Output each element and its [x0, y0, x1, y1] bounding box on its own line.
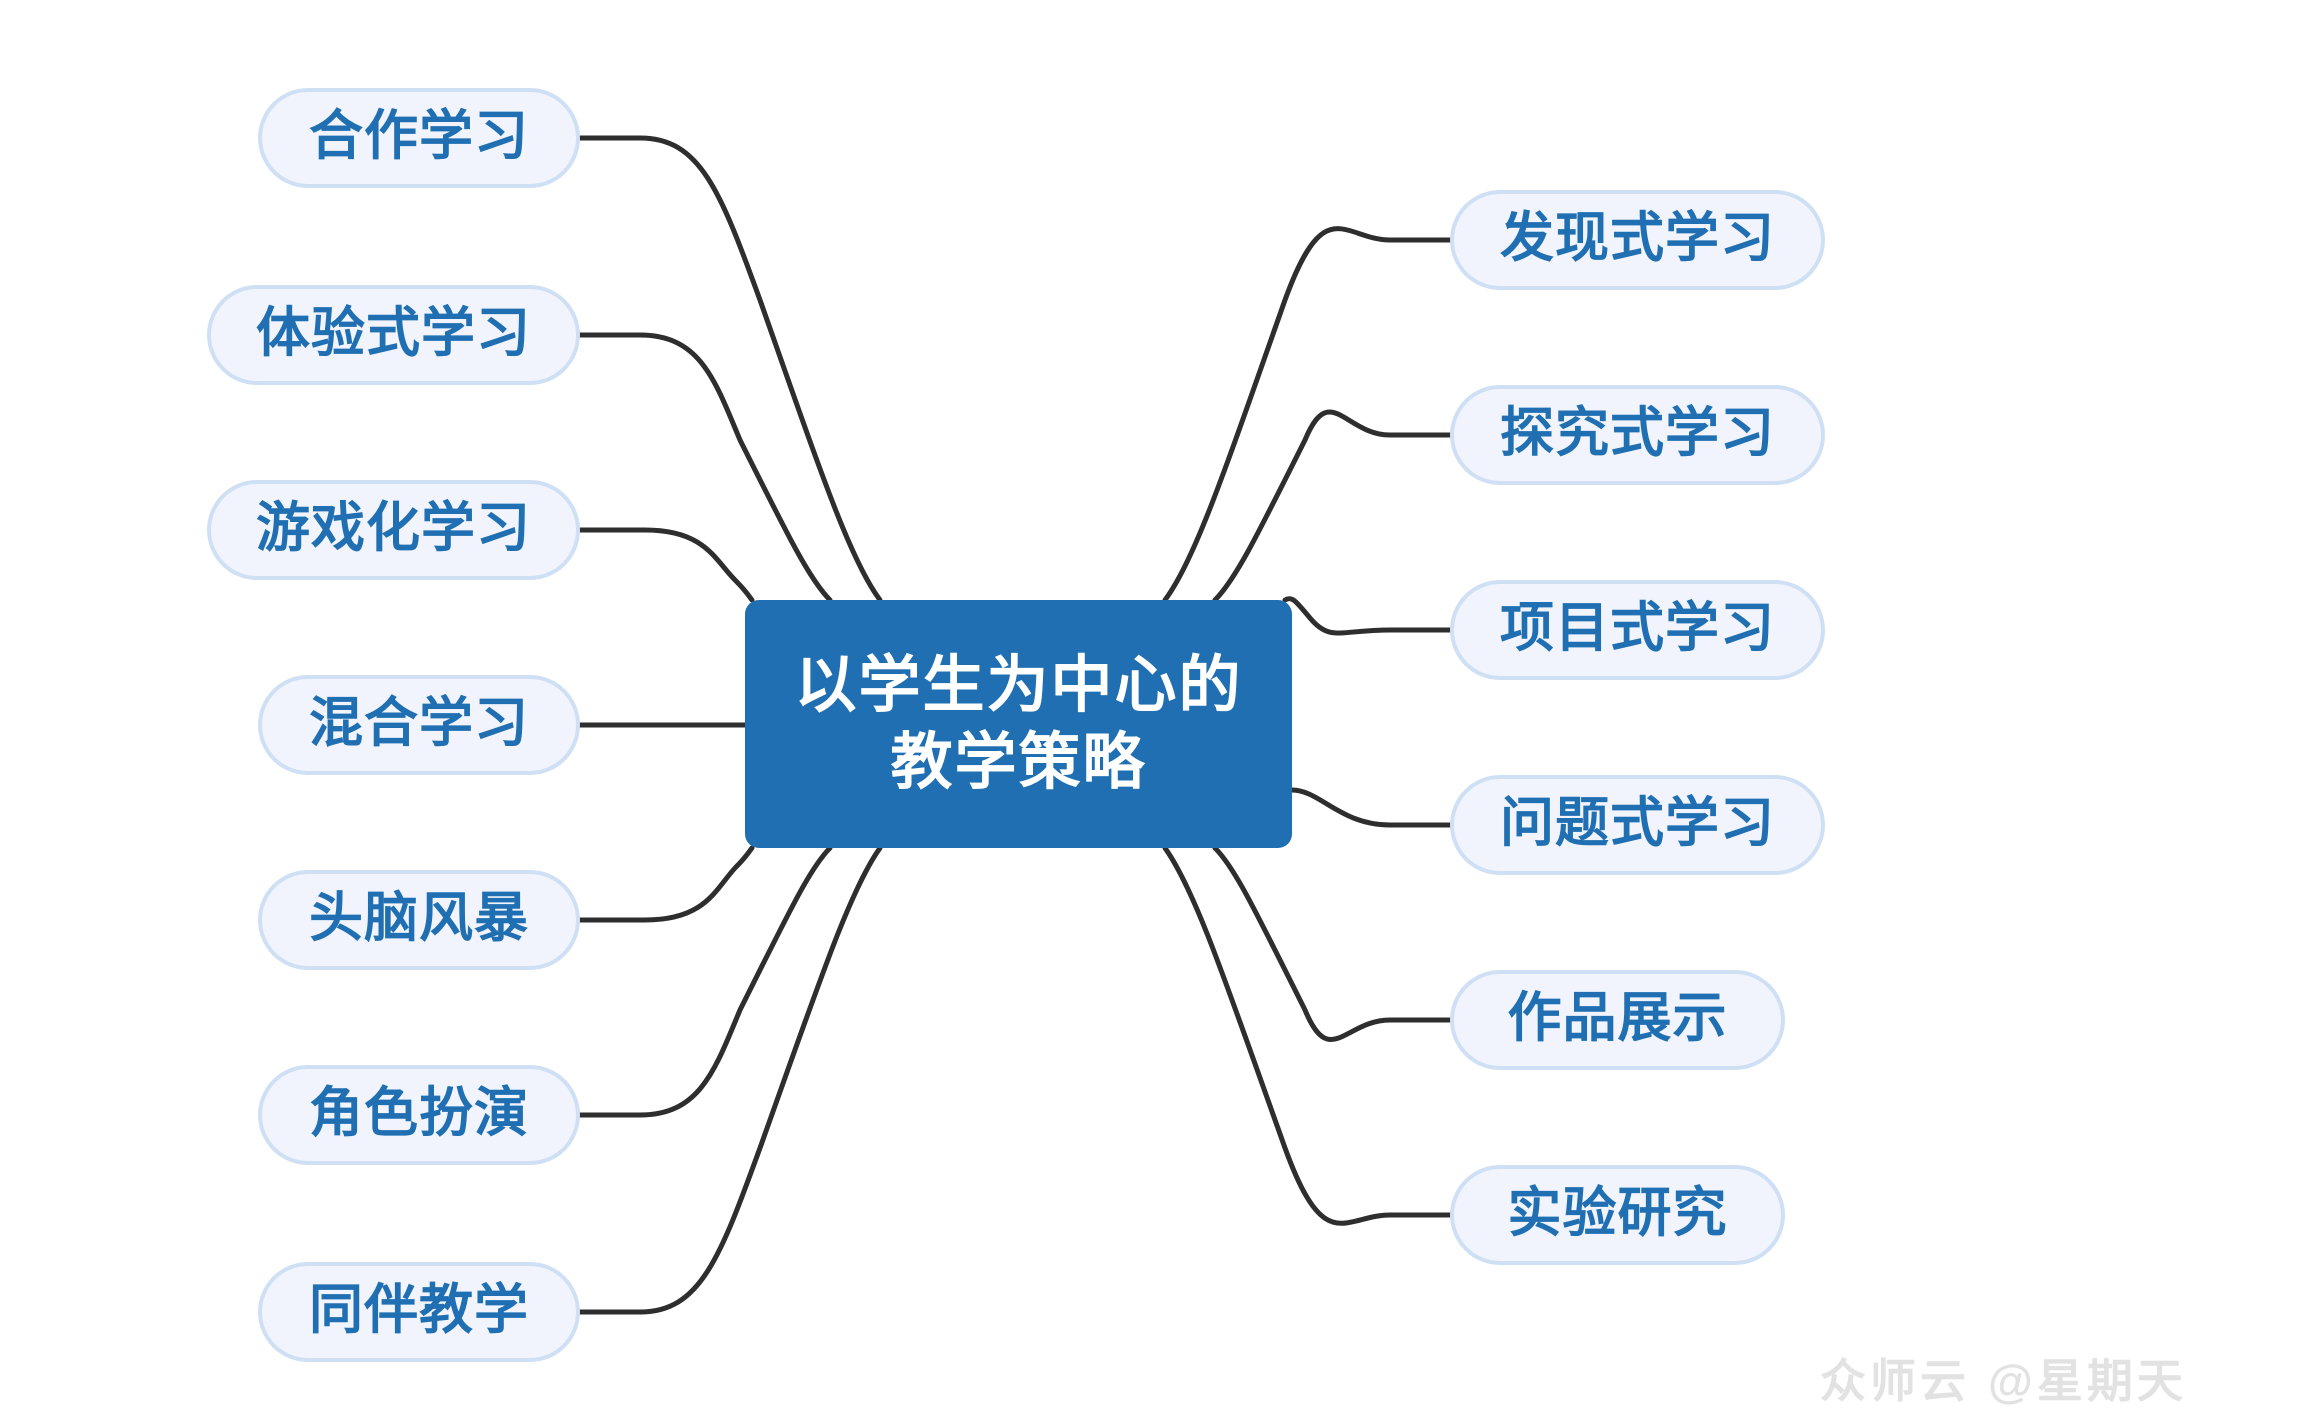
connector-right-12 [1215, 848, 1450, 1040]
branch-node-label: 角色扮演 [309, 1086, 529, 1144]
connector-left-3 [580, 530, 752, 600]
connector-left-2 [580, 335, 830, 600]
connector-right-10 [1285, 599, 1450, 633]
branch-node-left-2[interactable]: 体验式学习 [207, 285, 580, 385]
connector-left-5 [580, 848, 752, 920]
branch-node-label: 体验式学习 [256, 306, 531, 364]
branch-node-left-6[interactable]: 角色扮演 [258, 1065, 580, 1165]
branch-node-left-5[interactable]: 头脑风暴 [258, 870, 580, 970]
central-topic-line-1: 以学生为中心的 [794, 647, 1242, 725]
connector-right-11 [1292, 790, 1450, 825]
branch-node-right-3[interactable]: 项目式学习 [1450, 580, 1825, 680]
connector-right-8 [1165, 229, 1450, 600]
connector-right-13 [1165, 848, 1450, 1223]
branch-node-label: 实验研究 [1508, 1186, 1728, 1244]
branch-node-label: 作品展示 [1508, 991, 1728, 1049]
branch-node-label: 头脑风暴 [309, 891, 529, 949]
branch-node-label: 合作学习 [309, 109, 529, 167]
connector-left-1 [580, 138, 880, 600]
connector-right-9 [1215, 412, 1450, 600]
mindmap-canvas: 合作学习体验式学习游戏化学习混合学习头脑风暴角色扮演同伴教学发现式学习探究式学习… [0, 0, 2297, 1421]
branch-node-label: 发现式学习 [1500, 211, 1775, 269]
branch-node-label: 项目式学习 [1500, 601, 1775, 659]
branch-node-right-1[interactable]: 发现式学习 [1450, 190, 1825, 290]
branch-node-right-4[interactable]: 问题式学习 [1450, 775, 1825, 875]
branch-node-label: 游戏化学习 [256, 501, 531, 559]
watermark: 众师云 @星期天 [1820, 1345, 2187, 1411]
connector-left-6 [580, 848, 830, 1115]
branch-node-left-7[interactable]: 同伴教学 [258, 1262, 580, 1362]
watermark-author: @星期天 [1988, 1345, 2187, 1411]
branch-node-right-5[interactable]: 作品展示 [1450, 970, 1785, 1070]
branch-node-right-2[interactable]: 探究式学习 [1450, 385, 1825, 485]
central-topic-line-2: 教学策略 [890, 724, 1146, 802]
branch-node-left-4[interactable]: 混合学习 [258, 675, 580, 775]
branch-node-right-6[interactable]: 实验研究 [1450, 1165, 1785, 1265]
watermark-brand: 众师云 [1820, 1345, 1970, 1411]
branch-node-left-3[interactable]: 游戏化学习 [207, 480, 580, 580]
central-topic-node[interactable]: 以学生为中心的 教学策略 [745, 600, 1292, 848]
branch-node-label: 探究式学习 [1500, 406, 1775, 464]
branch-node-label: 同伴教学 [309, 1283, 529, 1341]
branch-node-label: 问题式学习 [1500, 796, 1775, 854]
connector-left-7 [580, 848, 880, 1312]
branch-node-label: 混合学习 [309, 696, 529, 754]
branch-node-left-1[interactable]: 合作学习 [258, 88, 580, 188]
